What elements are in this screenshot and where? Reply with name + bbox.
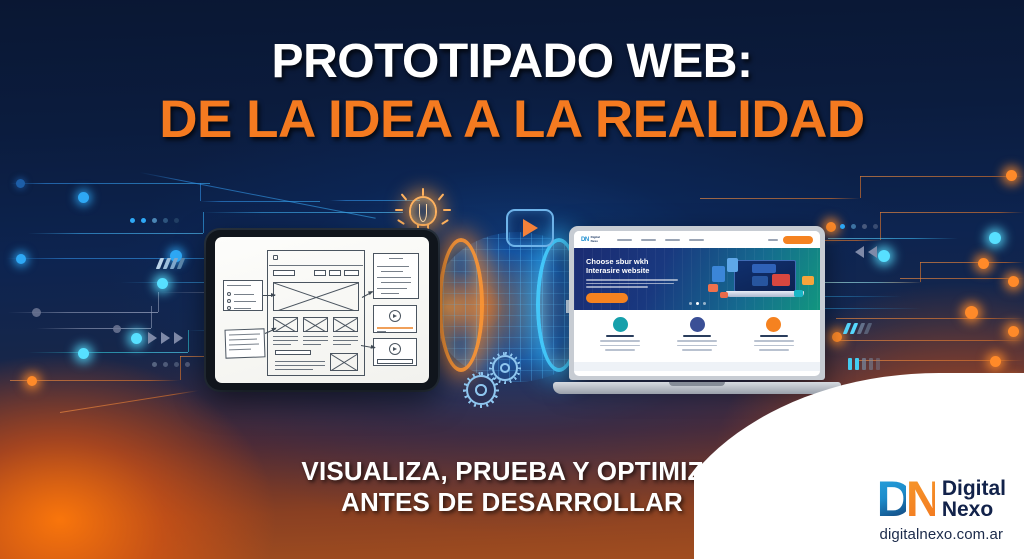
nav-item-services[interactable] xyxy=(665,239,680,241)
site-navbar: DN Digital Nexo xyxy=(574,231,820,248)
gears-icon xyxy=(466,355,536,411)
feature-card-1 xyxy=(582,317,659,362)
hero-paragraph xyxy=(586,279,682,288)
hero-heading-line2: Interasire website xyxy=(586,266,682,275)
brand-logo[interactable]: DN Digital Nexo digitalnexo.com.ar xyxy=(877,474,1006,543)
site-nav-links[interactable] xyxy=(617,239,704,241)
nav-item-home[interactable] xyxy=(617,239,632,241)
logo-wordmark: Digital Nexo xyxy=(942,478,1006,520)
play-button-icon[interactable] xyxy=(506,209,554,247)
headline-line-2: DE LA IDEA A LA REALIDAD xyxy=(0,90,1024,150)
hero-heading-line1: Choose sbur wkh xyxy=(586,257,682,266)
tablet-screen xyxy=(215,237,429,383)
logo-letter-d: D xyxy=(877,471,906,527)
feature-card-2 xyxy=(659,317,736,362)
nav-item-about[interactable] xyxy=(641,239,656,241)
logo-name-line-1: Digital xyxy=(942,478,1006,499)
site-logo[interactable]: DN Digital Nexo xyxy=(581,236,600,243)
portal-ring-orange xyxy=(438,238,484,372)
site-logo-name-2: Nexo xyxy=(591,240,600,243)
headline-line-1: PROTOTIPADO WEB: xyxy=(0,34,1024,90)
logo-name-line-2: Nexo xyxy=(942,499,1006,520)
hero-illustration xyxy=(706,254,816,306)
laptop-screen: DN Digital Nexo xyxy=(574,231,820,376)
logo-monogram: DN xyxy=(877,474,935,524)
nav-cta-button[interactable] xyxy=(783,236,813,244)
tablet-device xyxy=(206,230,438,390)
headline-block: PROTOTIPADO WEB: DE LA IDEA A LA REALIDA… xyxy=(0,34,1024,150)
site-features xyxy=(574,310,820,362)
logo-letter-n: N xyxy=(906,471,935,527)
banner-root: DN Digital Nexo xyxy=(0,0,1024,559)
hero-carousel-dots[interactable] xyxy=(574,302,820,305)
logo-website-url[interactable]: digitalnexo.com.ar xyxy=(880,526,1004,543)
nav-item-resources[interactable] xyxy=(689,239,704,241)
nav-login-link[interactable] xyxy=(768,239,778,241)
site-logo-d: DN xyxy=(581,237,589,243)
site-hero: Choose sbur wkh Interasire website xyxy=(574,248,820,310)
feature-card-3 xyxy=(735,317,812,362)
